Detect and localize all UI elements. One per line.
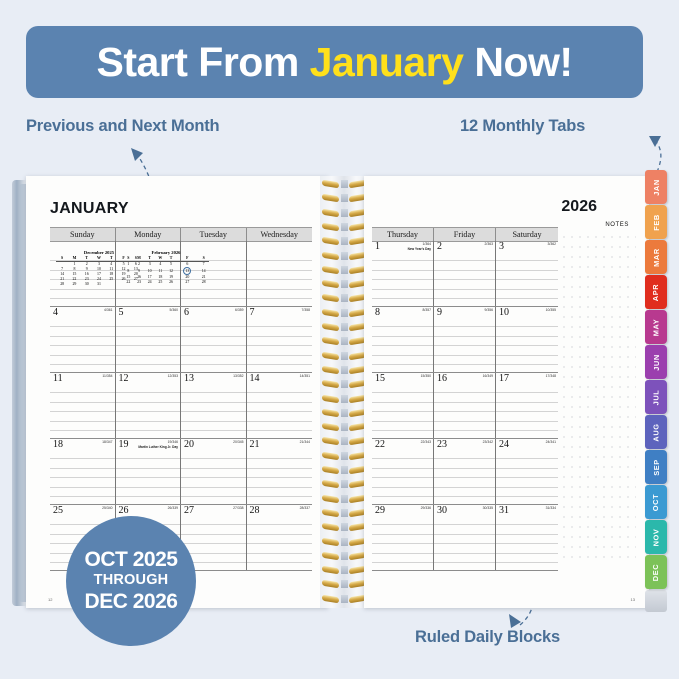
ruled-lines bbox=[372, 318, 433, 372]
monthly-tab-strip[interactable]: JANFEBMARAPRMAYJUNJULAUGSEPOCTNOVDEC bbox=[645, 170, 667, 612]
day-number: 3 bbox=[499, 241, 504, 252]
mini-week-row: 891011121314 bbox=[123, 267, 209, 275]
ruled-lines bbox=[496, 252, 558, 306]
day-of-year: 4/361 bbox=[104, 308, 113, 312]
day-of-year: 14/351 bbox=[300, 374, 310, 378]
day-cell[interactable]: 33/362 bbox=[496, 241, 558, 306]
spiral-coil bbox=[322, 495, 366, 504]
monthly-tab-may[interactable]: MAY bbox=[645, 310, 667, 344]
ruled-lines bbox=[496, 384, 558, 438]
day-of-year: 7/358 bbox=[302, 308, 311, 312]
mini-day bbox=[105, 282, 117, 287]
monthly-tab-mar[interactable]: MAR bbox=[645, 240, 667, 274]
spiral-coil bbox=[322, 523, 366, 532]
ruled-lines bbox=[247, 450, 313, 504]
day-number: 21 bbox=[250, 439, 260, 450]
day-of-year: 3/362 bbox=[548, 242, 557, 246]
spiral-binding bbox=[320, 176, 368, 608]
mini-day: 23 bbox=[134, 280, 145, 285]
monthly-tab-jul[interactable]: JUL bbox=[645, 380, 667, 414]
day-of-year: 23/342 bbox=[483, 440, 493, 444]
day-of-year: 18/347 bbox=[102, 440, 112, 444]
day-of-year: 17/348 bbox=[546, 374, 556, 378]
mini-day: 14 bbox=[198, 267, 209, 275]
day-number: 22 bbox=[375, 439, 385, 450]
day-number: 11 bbox=[53, 373, 63, 384]
ruled-lines bbox=[434, 252, 495, 306]
ruled-lines bbox=[116, 450, 181, 504]
day-number: 25 bbox=[53, 505, 63, 516]
day-header-thursday: Thursday bbox=[372, 228, 434, 241]
monthly-tab-label: APR bbox=[652, 283, 661, 300]
day-number: 29 bbox=[375, 505, 385, 516]
day-cell[interactable]: 2424/341 bbox=[496, 439, 558, 504]
spiral-coil bbox=[322, 452, 366, 461]
page-title-year: 2026 bbox=[561, 198, 597, 216]
day-number: 28 bbox=[250, 505, 260, 516]
monthly-tab-jan[interactable]: JAN bbox=[645, 170, 667, 204]
day-header-monday: Monday bbox=[116, 228, 182, 241]
day-cell[interactable]: 22/363 bbox=[434, 241, 496, 306]
spiral-coil bbox=[322, 566, 366, 575]
page-title-month: JANUARY bbox=[50, 200, 129, 218]
mini-day: 26 bbox=[166, 280, 177, 285]
day-number: 6 bbox=[184, 307, 189, 318]
ruled-lines bbox=[50, 384, 115, 438]
day-cell[interactable]: 44/361 bbox=[50, 307, 116, 372]
week-grid-right: 11/364New Year's Day22/36333/36288/35799… bbox=[372, 241, 558, 571]
ruled-lines bbox=[247, 318, 313, 372]
monthly-tab-dec[interactable]: DEC bbox=[645, 555, 667, 589]
day-number: 30 bbox=[437, 505, 447, 516]
page-number-right: 13 bbox=[631, 597, 635, 602]
mini-day: 29 bbox=[68, 282, 80, 287]
day-number: 24 bbox=[499, 439, 509, 450]
date-range-badge: OCT 2025 THROUGH DEC 2026 bbox=[66, 516, 196, 646]
day-of-year: 8/357 bbox=[423, 308, 432, 312]
arrowhead-tabs bbox=[649, 136, 661, 147]
monthly-tab-oct[interactable]: OCT bbox=[645, 485, 667, 519]
mini-day: 25 bbox=[155, 280, 166, 285]
monthly-tab-label: MAR bbox=[651, 248, 660, 267]
day-cell[interactable]: 1111/354 bbox=[50, 373, 116, 438]
day-cell[interactable]: 3131/334 bbox=[496, 505, 558, 570]
badge-line-1: OCT 2025 bbox=[85, 549, 178, 571]
mini-day: 9 bbox=[134, 267, 145, 275]
day-of-year: 12/353 bbox=[168, 374, 178, 378]
day-number: 16 bbox=[437, 373, 447, 384]
monthly-tab-feb[interactable]: FEB bbox=[645, 205, 667, 239]
day-header-row-left: SundayMondayTuesdayWednesday bbox=[50, 227, 312, 242]
day-cell[interactable]: 88/357 bbox=[372, 307, 434, 372]
day-cell[interactable]: 66/359 bbox=[181, 307, 247, 372]
monthly-tab-apr[interactable]: APR bbox=[645, 275, 667, 309]
day-cell[interactable]: 1515/350 bbox=[372, 373, 434, 438]
day-cell[interactable]: 77/358 bbox=[247, 307, 313, 372]
spiral-coil bbox=[322, 223, 366, 232]
day-cell[interactable]: 11/364New Year's Day bbox=[372, 241, 434, 306]
ruled-lines bbox=[247, 516, 313, 570]
day-number: 4 bbox=[53, 307, 58, 318]
day-number: 7 bbox=[250, 307, 255, 318]
spiral-coil bbox=[322, 266, 366, 275]
day-of-year: 27/338 bbox=[233, 506, 243, 510]
day-of-year: 19/346 bbox=[168, 440, 178, 444]
day-cell[interactable]: 1616/349 bbox=[434, 373, 496, 438]
monthly-tab-label: DEC bbox=[652, 563, 661, 580]
monthly-tab-nov[interactable]: NOV bbox=[645, 520, 667, 554]
badge-line-3: DEC 2026 bbox=[85, 591, 178, 613]
mini-day: 22 bbox=[123, 280, 134, 285]
ruled-lines bbox=[181, 318, 246, 372]
day-number: 2 bbox=[437, 241, 442, 252]
mini-day: 31 bbox=[93, 282, 105, 287]
day-number: 8 bbox=[375, 307, 380, 318]
day-number: 13 bbox=[184, 373, 194, 384]
day-of-year: 11/354 bbox=[102, 374, 112, 378]
monthly-tab-jun[interactable]: JUN bbox=[645, 345, 667, 379]
week-row: 11/364New Year's Day22/36333/362 bbox=[372, 241, 558, 307]
day-cell[interactable]: 99/356 bbox=[434, 307, 496, 372]
mini-week-row: 22232425262728 bbox=[123, 280, 209, 285]
spiral-coil bbox=[322, 395, 366, 404]
spiral-coil bbox=[322, 466, 366, 475]
spiral-coil bbox=[322, 352, 366, 361]
spiral-coil bbox=[322, 180, 366, 189]
day-number: 12 bbox=[119, 373, 129, 384]
mini-day: 27 bbox=[176, 280, 198, 285]
ruled-lines bbox=[372, 384, 433, 438]
spiral-coil bbox=[322, 209, 366, 218]
day-of-year: 22/343 bbox=[421, 440, 431, 444]
spiral-coil bbox=[322, 595, 366, 604]
day-header-wednesday: Wednesday bbox=[247, 228, 313, 241]
ruled-lines bbox=[496, 450, 558, 504]
mini-day: 28 bbox=[56, 282, 68, 287]
ruled-lines bbox=[496, 516, 558, 570]
day-of-year: 25/340 bbox=[102, 506, 112, 510]
day-of-year: 10/355 bbox=[546, 308, 556, 312]
ruled-lines bbox=[434, 450, 495, 504]
spiral-coil bbox=[322, 194, 366, 203]
day-of-year: 31/334 bbox=[546, 506, 556, 510]
callout-monthly-tabs: 12 Monthly Tabs bbox=[460, 117, 585, 136]
monthly-tab-aug[interactable]: AUG bbox=[645, 415, 667, 449]
monthly-tab-label: MAY bbox=[651, 318, 660, 336]
week-row: 2222/3432323/3422424/341 bbox=[372, 439, 558, 505]
day-number: 23 bbox=[437, 439, 447, 450]
monthly-tab-label: OCT bbox=[652, 493, 661, 510]
day-number: 20 bbox=[184, 439, 194, 450]
day-of-year: 29/336 bbox=[421, 506, 431, 510]
day-number: 15 bbox=[375, 373, 385, 384]
day-number: 19 bbox=[119, 439, 129, 450]
day-number: 18 bbox=[53, 439, 63, 450]
day-of-year: 5/360 bbox=[170, 308, 179, 312]
promo-banner-text: Start From January Now! bbox=[96, 39, 572, 86]
ruled-lines bbox=[181, 450, 246, 504]
day-number: 26 bbox=[119, 505, 129, 516]
day-number: 14 bbox=[250, 373, 260, 384]
day-of-year: 24/341 bbox=[546, 440, 556, 444]
mini-day: 12 bbox=[166, 267, 177, 275]
day-cell[interactable]: 2121/344 bbox=[247, 439, 313, 504]
day-cell[interactable]: 2323/342 bbox=[434, 439, 496, 504]
day-cell[interactable]: 2828/337 bbox=[247, 505, 313, 570]
day-cell[interactable]: 1414/351 bbox=[247, 373, 313, 438]
monthly-tab-sep[interactable]: SEP bbox=[645, 450, 667, 484]
day-cell[interactable]: 1919/346Martin Luther King Jr. Day bbox=[116, 439, 182, 504]
day-of-year: 28/337 bbox=[300, 506, 310, 510]
ruled-lines bbox=[247, 384, 313, 438]
monthly-tab-label: JUL bbox=[651, 389, 660, 405]
badge-line-2: THROUGH bbox=[94, 573, 169, 588]
mini-day: 10 bbox=[144, 267, 155, 275]
day-of-year: 26/339 bbox=[168, 506, 178, 510]
spiral-coil bbox=[322, 423, 366, 432]
day-number: 5 bbox=[119, 307, 124, 318]
day-header-friday: Friday bbox=[434, 228, 496, 241]
day-cell[interactable]: 3030/335 bbox=[434, 505, 496, 570]
spiral-coil bbox=[322, 323, 366, 332]
day-header-tuesday: Tuesday bbox=[181, 228, 247, 241]
mini-day: 24 bbox=[144, 280, 155, 285]
ruled-lines bbox=[372, 450, 433, 504]
ruled-lines bbox=[434, 516, 495, 570]
ruled-lines bbox=[372, 252, 433, 306]
spiral-coil bbox=[322, 252, 366, 261]
mini-day: 13 bbox=[176, 267, 198, 275]
week-row: 1818/3471919/346Martin Luther King Jr. D… bbox=[50, 439, 312, 505]
monthly-tab-label: SEP bbox=[652, 459, 661, 476]
day-cell[interactable]: 1010/355 bbox=[496, 307, 558, 372]
tab-strip-end-cap bbox=[645, 590, 667, 612]
page-number-left: 12 bbox=[48, 597, 52, 602]
spiral-coil bbox=[322, 380, 366, 389]
week-row: 2929/3363030/3353131/334 bbox=[372, 505, 558, 571]
day-of-year: 21/344 bbox=[300, 440, 310, 444]
spiral-coil bbox=[322, 294, 366, 303]
mini-calendar-february: February 2026SMTWTFS12345678910111213141… bbox=[123, 250, 209, 285]
day-header-saturday: Saturday bbox=[496, 228, 558, 241]
ruled-lines bbox=[116, 318, 181, 372]
day-cell[interactable]: 1818/347 bbox=[50, 439, 116, 504]
arrowhead-previous-next bbox=[131, 148, 143, 161]
day-number: 31 bbox=[499, 505, 509, 516]
promo-banner: Start From January Now! bbox=[26, 26, 643, 98]
notes-label: NOTES bbox=[605, 222, 629, 228]
ruled-lines bbox=[372, 516, 433, 570]
ruled-lines bbox=[434, 318, 495, 372]
spiral-coil bbox=[322, 509, 366, 518]
week-row: 88/35799/3561010/355 bbox=[372, 307, 558, 373]
day-cell[interactable]: 2929/336 bbox=[372, 505, 434, 570]
mini-day: 28 bbox=[198, 280, 209, 285]
spiral-coil bbox=[322, 237, 366, 246]
ruled-lines bbox=[116, 384, 181, 438]
day-number: 17 bbox=[499, 373, 509, 384]
week-row: 44/36155/36066/35977/358 bbox=[50, 307, 312, 373]
callout-ruled-daily-blocks: Ruled Daily Blocks bbox=[415, 628, 560, 647]
spiral-coil bbox=[322, 538, 366, 547]
monthly-tab-label: NOV bbox=[651, 528, 660, 546]
day-number: 27 bbox=[184, 505, 194, 516]
day-header-sunday: Sunday bbox=[50, 228, 116, 241]
day-of-year: 16/349 bbox=[483, 374, 493, 378]
monthly-tab-label: AUG bbox=[651, 423, 660, 441]
day-cell[interactable]: 1212/353 bbox=[116, 373, 182, 438]
week-grid-left: 44/36155/36066/35977/3581111/3541212/353… bbox=[50, 241, 312, 571]
spiral-coil bbox=[322, 309, 366, 318]
day-of-year: 13/352 bbox=[233, 374, 243, 378]
day-number: 9 bbox=[437, 307, 442, 318]
spiral-coil bbox=[322, 337, 366, 346]
holiday-label: Martin Luther King Jr. Day bbox=[138, 445, 178, 449]
day-number: 10 bbox=[499, 307, 509, 318]
spiral-coil bbox=[322, 437, 366, 446]
planner-page-right: 2026 NOTES ThursdayFridaySaturday 11/364… bbox=[364, 176, 649, 608]
banner-text-before: Start From bbox=[96, 39, 309, 85]
day-cell[interactable]: 2020/345 bbox=[181, 439, 247, 504]
day-header-row-right: ThursdayFridaySaturday bbox=[372, 227, 558, 242]
day-number: 1 bbox=[375, 241, 380, 252]
day-of-year: 9/356 bbox=[485, 308, 494, 312]
monthly-tab-label: FEB bbox=[652, 214, 661, 231]
spiral-coil bbox=[322, 480, 366, 489]
spiral-coil bbox=[322, 552, 366, 561]
day-of-year: 6/359 bbox=[235, 308, 244, 312]
holiday-label: New Year's Day bbox=[408, 247, 431, 251]
ruled-lines bbox=[181, 384, 246, 438]
monthly-tab-label: JUN bbox=[652, 354, 661, 371]
ruled-lines bbox=[434, 384, 495, 438]
ruled-lines bbox=[496, 318, 558, 372]
day-cell[interactable] bbox=[247, 241, 313, 306]
mini-day: 11 bbox=[155, 267, 166, 275]
ruled-lines bbox=[50, 318, 115, 372]
mini-calendar-title: February 2026 bbox=[123, 250, 209, 255]
day-of-year: 2/363 bbox=[485, 242, 494, 246]
day-cell[interactable]: 1313/352 bbox=[181, 373, 247, 438]
banner-text-highlight: January bbox=[310, 39, 464, 85]
spiral-coil bbox=[322, 280, 366, 289]
day-of-year: 20/345 bbox=[233, 440, 243, 444]
notes-dot-grid bbox=[560, 232, 636, 562]
ruled-lines bbox=[247, 252, 313, 306]
spiral-coil bbox=[322, 580, 366, 589]
day-cell[interactable]: 1717/348 bbox=[496, 373, 558, 438]
banner-text-after: Now! bbox=[463, 39, 572, 85]
day-cell[interactable]: 2222/343 bbox=[372, 439, 434, 504]
day-of-year: 1/364 bbox=[423, 242, 432, 246]
spiral-coil bbox=[322, 366, 366, 375]
week-row: 1515/3501616/3491717/348 bbox=[372, 373, 558, 439]
monthly-tab-label: JAN bbox=[652, 179, 661, 196]
arrow-path-tabs bbox=[655, 140, 661, 172]
callout-previous-next-month: Previous and Next Month bbox=[26, 117, 219, 136]
arrowhead-ruled bbox=[509, 614, 521, 628]
ruled-lines bbox=[50, 450, 115, 504]
mini-day: 30 bbox=[81, 282, 93, 287]
day-of-year: 30/335 bbox=[483, 506, 493, 510]
day-of-year: 15/350 bbox=[421, 374, 431, 378]
spiral-coil bbox=[322, 409, 366, 418]
day-cell[interactable]: 55/360 bbox=[116, 307, 182, 372]
mini-day: 8 bbox=[123, 267, 134, 275]
week-row: 1111/3541212/3531313/3521414/351 bbox=[50, 373, 312, 439]
